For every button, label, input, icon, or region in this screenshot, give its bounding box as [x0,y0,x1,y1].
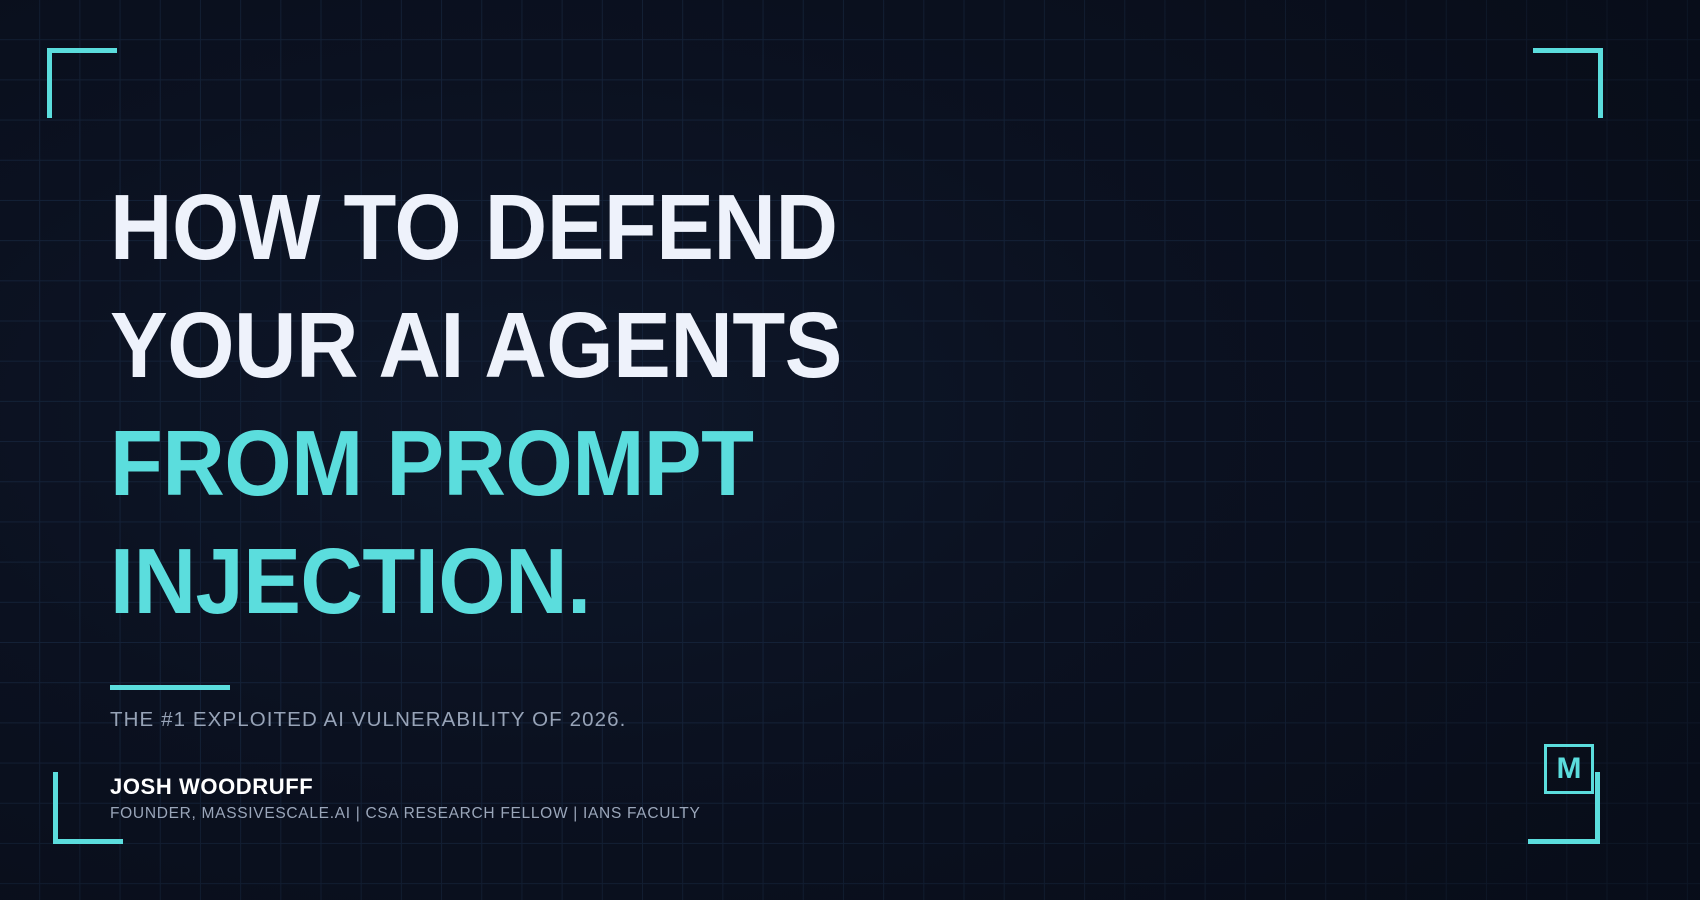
bracket-arm-horizontal [1528,839,1600,844]
bracket-arm-vertical [1595,772,1600,844]
bracket-arm-horizontal [47,48,117,53]
bracket-arm-vertical [53,772,58,844]
brand-logo-badge: M [1544,744,1594,794]
page-title: HOW TO DEFEND YOUR AI AGENTS FROM PROMPT… [110,168,1110,640]
bracket-arm-horizontal [1533,48,1603,53]
title-line-2: YOUR AI AGENTS [110,286,1040,404]
bracket-arm-vertical [47,48,52,118]
corner-bracket-top-left-icon [47,48,117,118]
brand-logo-letter: M [1557,754,1582,784]
title-line-1: HOW TO DEFEND [110,168,1040,286]
subtitle: THE #1 EXPLOITED AI VULNERABILITY OF 202… [110,708,626,732]
bracket-arm-vertical [1598,48,1603,118]
bracket-arm-horizontal [53,839,123,844]
author-name: JOSH WOODRUFF [110,774,701,800]
corner-bracket-top-right-icon [1533,48,1603,118]
author-block: JOSH WOODRUFF FOUNDER, MASSIVESCALE.AI |… [110,774,701,823]
title-slide: HOW TO DEFEND YOUR AI AGENTS FROM PROMPT… [0,0,1700,900]
author-credentials: FOUNDER, MASSIVESCALE.AI | CSA RESEARCH … [110,805,701,823]
title-line-3: FROM PROMPT [110,404,1040,522]
accent-divider [110,685,230,690]
title-line-4: INJECTION. [110,522,1040,640]
